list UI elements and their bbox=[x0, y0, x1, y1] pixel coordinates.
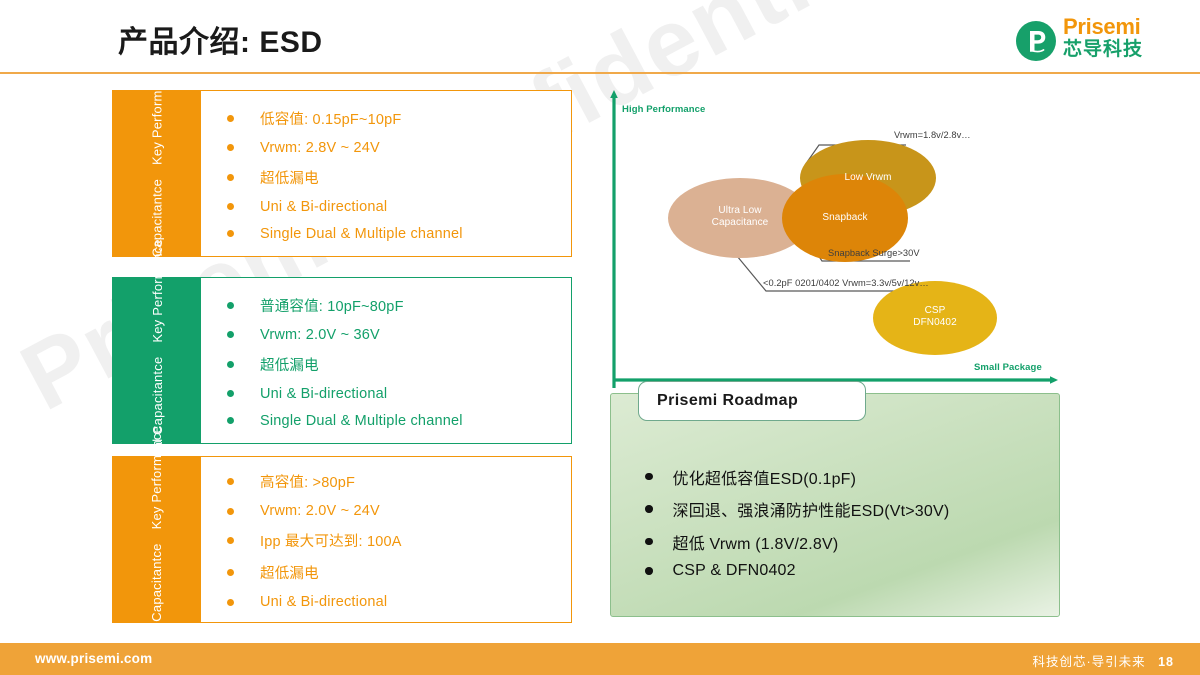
prisemi-logo: Prisemi 芯导科技 bbox=[1015, 18, 1180, 64]
list-item: 高容值: >80pF bbox=[227, 471, 561, 492]
list-item: Uni & Bi-directional bbox=[227, 199, 561, 215]
bullet-text: 超低漏电 bbox=[260, 167, 319, 188]
bullet-text: Ipp 最大可达到: 100A bbox=[260, 530, 402, 551]
card-tab-subtitle: Key Performance bbox=[150, 62, 165, 165]
bullet-dot-icon bbox=[227, 508, 234, 515]
logo-chinese-text: 芯导科技 bbox=[1063, 39, 1143, 60]
bullet-dot-icon bbox=[645, 473, 653, 481]
list-item: 深回退、强浪涌防护性能ESD(Vt>30V) bbox=[645, 497, 1045, 521]
list-item: Single Dual & Multiple channel bbox=[227, 413, 561, 429]
feature-card-low-capacitance: Low Capacitantce Key Performance 低容值: 0.… bbox=[112, 90, 572, 257]
feature-card-normal-capacitance: Normal Capacitantce Key Performance 普通容值… bbox=[112, 277, 572, 444]
bullet-dot-icon bbox=[227, 174, 234, 181]
list-item: Vrwm: 2.0V ~ 24V bbox=[227, 503, 561, 519]
list-item: 超低漏电 bbox=[227, 562, 561, 583]
roadmap-list: 优化超低容值ESD(0.1pF) 深回退、强浪涌防护性能ESD(Vt>30V) … bbox=[645, 456, 1045, 589]
list-item: Vrwm: 2.0V ~ 36V bbox=[227, 327, 561, 343]
slide-footer: www.prisemi.com 科技创芯·导引未来 18 bbox=[0, 643, 1200, 675]
footer-slogan: 科技创芯·导引未来 bbox=[1032, 655, 1145, 669]
list-item: 优化超低容值ESD(0.1pF) bbox=[645, 465, 1045, 489]
bullet-text: Uni & Bi-directional bbox=[260, 199, 387, 215]
card-tab-low-capacitance: Low Capacitantce Key Performance bbox=[113, 91, 201, 256]
roadmap-item-text: CSP & DFN0402 bbox=[673, 562, 796, 580]
snapback-annotation: Snapback Surge>30V bbox=[828, 248, 920, 258]
list-item: Uni & Bi-directional bbox=[227, 594, 561, 610]
bubble-csp-dfn0402 bbox=[873, 281, 997, 355]
bullet-text: 低容值: 0.15pF~10pF bbox=[260, 108, 401, 129]
card-body-low-capacitance: 低容值: 0.15pF~10pF Vrwm: 2.8V ~ 24V 超低漏电 U… bbox=[201, 91, 571, 256]
roadmap-item-text: 深回退、强浪涌防护性能ESD(Vt>30V) bbox=[673, 497, 950, 521]
bullet-text: Single Dual & Multiple channel bbox=[260, 413, 463, 429]
roadmap-item-text: 优化超低容值ESD(0.1pF) bbox=[673, 465, 857, 489]
list-item: Ipp 最大可达到: 100A bbox=[227, 530, 561, 551]
chart-x-axis-label: Small Package bbox=[974, 362, 1042, 373]
chart-canvas bbox=[600, 88, 1070, 388]
bullet-text: Uni & Bi-directional bbox=[260, 386, 387, 402]
bullet-text: 超低漏电 bbox=[260, 562, 319, 583]
ultra-low-cap-annotation: <0.2pF 0201/0402 Vrwm=3.3v/5v/12v… bbox=[763, 278, 929, 288]
card-tab-subtitle: Key Performance bbox=[150, 426, 165, 529]
bullet-dot-icon bbox=[227, 569, 234, 576]
logo-wordmark: Prisemi 芯导科技 bbox=[1063, 16, 1143, 60]
bullet-dot-icon bbox=[227, 331, 234, 338]
footer-website-link[interactable]: www.prisemi.com bbox=[35, 651, 152, 666]
slide-header: 产品介绍: ESD Prisemi 芯导科技 bbox=[0, 0, 1200, 73]
roadmap-title: Prisemi Roadmap bbox=[657, 392, 798, 410]
list-item: Uni & Bi-directional bbox=[227, 386, 561, 402]
list-item: 超低 Vrwm (1.8V/2.8V) bbox=[645, 530, 1045, 554]
bullet-text: 普通容值: 10pF~80pF bbox=[260, 295, 404, 316]
list-item: Single Dual & Multiple channel bbox=[227, 226, 561, 242]
bullet-dot-icon bbox=[227, 390, 234, 397]
feature-card-high-capacitance: High Capacitantce Key Performance 高容值: >… bbox=[112, 456, 572, 623]
card-tab-title: High Capacitantce bbox=[150, 543, 165, 653]
page-number: 18 bbox=[1158, 655, 1174, 669]
list-item: CSP & DFN0402 bbox=[645, 562, 1045, 580]
card-tab-normal-capacitance: Normal Capacitantce Key Performance bbox=[113, 278, 201, 443]
bullet-dot-icon bbox=[227, 230, 234, 237]
bullet-dot-icon bbox=[227, 203, 234, 210]
bullet-dot-icon bbox=[227, 115, 234, 122]
bullet-dot-icon bbox=[227, 302, 234, 309]
bullet-text: Single Dual & Multiple channel bbox=[260, 226, 463, 242]
bullet-text: Uni & Bi-directional bbox=[260, 594, 387, 610]
p-monogram-icon bbox=[1015, 20, 1057, 67]
list-item: 超低漏电 bbox=[227, 354, 561, 375]
bullet-text: Vrwm: 2.0V ~ 24V bbox=[260, 503, 380, 519]
bullet-dot-icon bbox=[227, 417, 234, 424]
bullet-dot-icon bbox=[645, 505, 653, 513]
bullet-dot-icon bbox=[227, 361, 234, 368]
bullet-dot-icon bbox=[227, 478, 234, 485]
card-tab-subtitle: Key Performance bbox=[150, 239, 165, 342]
low-vrwm-annotation: Vrwm=1.8v/2.8v… bbox=[894, 130, 971, 140]
bullet-text: Vrwm: 2.8V ~ 24V bbox=[260, 140, 380, 156]
positioning-chart: High Performance Small Package Low Vrwm … bbox=[600, 88, 1070, 388]
list-item: 普通容值: 10pF~80pF bbox=[227, 295, 561, 316]
bullet-dot-icon bbox=[227, 144, 234, 151]
bullet-text: 高容值: >80pF bbox=[260, 471, 355, 492]
logo-english-text: Prisemi bbox=[1063, 16, 1143, 38]
roadmap-item-text: 超低 Vrwm (1.8V/2.8V) bbox=[673, 530, 839, 554]
page-title: 产品介绍: ESD bbox=[118, 17, 323, 61]
roadmap-panel: Prisemi Roadmap 优化超低容值ESD(0.1pF) 深回退、强浪涌… bbox=[610, 393, 1060, 617]
chart-y-axis-label: High Performance bbox=[622, 104, 705, 115]
list-item: 低容值: 0.15pF~10pF bbox=[227, 108, 561, 129]
roadmap-title-pill: Prisemi Roadmap bbox=[638, 381, 866, 421]
bullet-dot-icon bbox=[645, 538, 653, 546]
bullet-dot-icon bbox=[227, 537, 234, 544]
bullet-dot-icon bbox=[227, 599, 234, 606]
bullet-dot-icon bbox=[645, 567, 653, 575]
bullet-text: Vrwm: 2.0V ~ 36V bbox=[260, 327, 380, 343]
list-item: Vrwm: 2.8V ~ 24V bbox=[227, 140, 561, 156]
card-body-normal-capacitance: 普通容值: 10pF~80pF Vrwm: 2.0V ~ 36V 超低漏电 Un… bbox=[201, 278, 571, 443]
list-item: 超低漏电 bbox=[227, 167, 561, 188]
card-body-high-capacitance: 高容值: >80pF Vrwm: 2.0V ~ 24V Ipp 最大可达到: 1… bbox=[201, 457, 571, 622]
header-divider bbox=[0, 72, 1200, 74]
bullet-text: 超低漏电 bbox=[260, 354, 319, 375]
card-tab-high-capacitance: High Capacitantce Key Performance bbox=[113, 457, 201, 622]
footer-right-group: 科技创芯·导引未来 18 bbox=[1032, 651, 1174, 670]
